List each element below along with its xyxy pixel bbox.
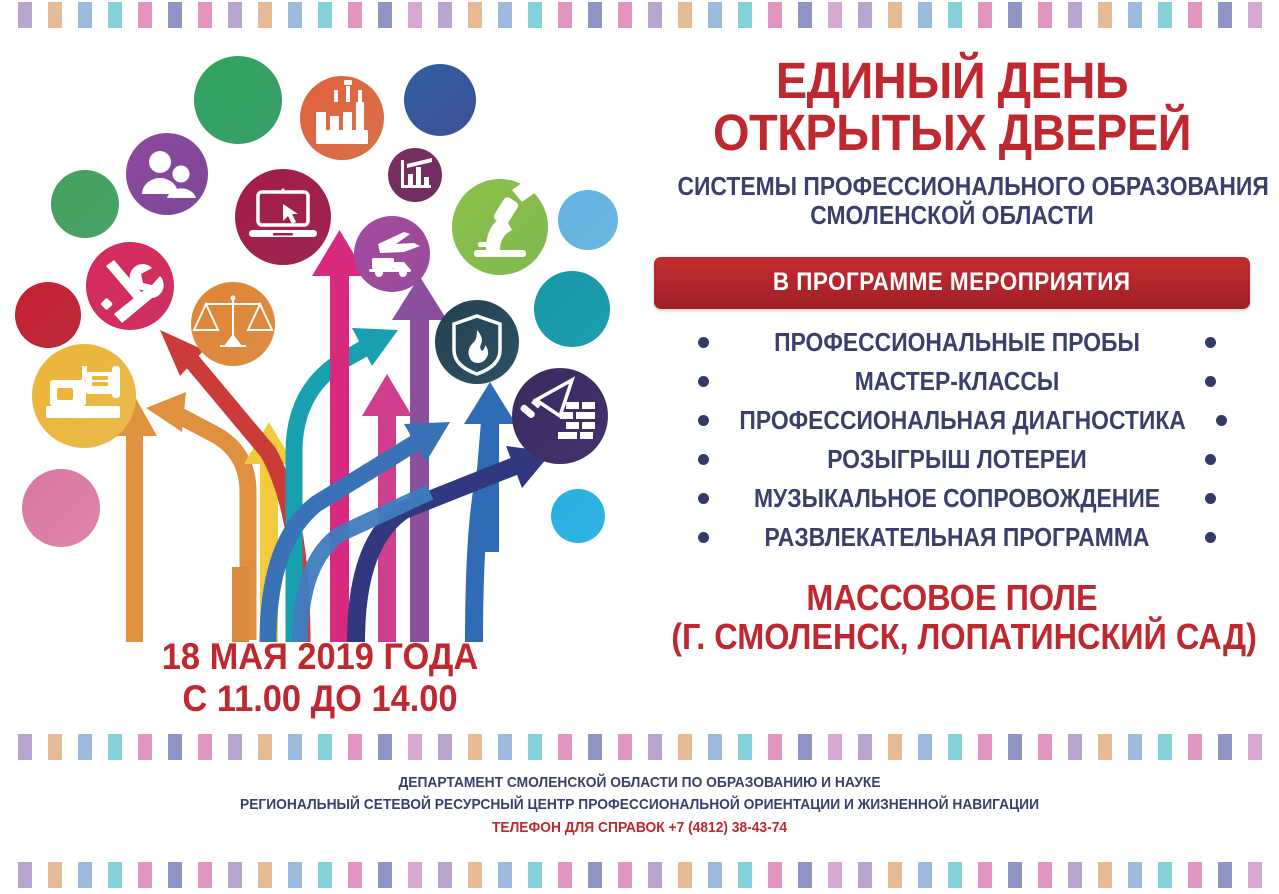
border-swatch bbox=[528, 862, 542, 888]
border-swatch bbox=[618, 734, 632, 760]
arrow-blue-straight bbox=[464, 382, 516, 642]
border-swatch bbox=[618, 862, 632, 888]
circle-tools bbox=[86, 242, 174, 330]
event-date-line: 18 МАЯ 2019 ГОДА bbox=[106, 636, 534, 678]
border-swatch bbox=[48, 862, 62, 888]
border-swatch bbox=[798, 734, 812, 760]
border-swatch bbox=[708, 2, 722, 28]
border-swatch bbox=[48, 734, 62, 760]
border-swatch bbox=[1098, 2, 1112, 28]
border-swatch bbox=[768, 862, 782, 888]
border-swatch bbox=[378, 734, 392, 760]
circle-plain-green-top bbox=[194, 56, 282, 144]
footer-block: ДЕПАРТАМЕНТ СМОЛЕНСКОЙ ОБЛАСТИ ПО ОБРАЗО… bbox=[0, 772, 1279, 840]
border-swatch bbox=[768, 2, 782, 28]
circle-plain-crimson bbox=[15, 282, 81, 348]
circle-laptop bbox=[235, 169, 331, 265]
program-item: ПРОФЕССИОНАЛЬНЫЕ ПРОБЫ bbox=[640, 323, 1264, 362]
border-swatch bbox=[318, 862, 332, 888]
border-swatch bbox=[1158, 862, 1172, 888]
border-swatch bbox=[198, 734, 212, 760]
border-swatch bbox=[318, 734, 332, 760]
program-item: ПРОФЕССИОНАЛЬНАЯ ДИАГНОСТИКА bbox=[640, 401, 1264, 440]
event-time-line: С 11.00 ДО 14.00 bbox=[106, 678, 534, 720]
border-swatch bbox=[1248, 862, 1262, 888]
border-swatch bbox=[858, 2, 872, 28]
border-swatch bbox=[1128, 862, 1142, 888]
bullet-icon bbox=[698, 337, 709, 348]
program-item: МУЗЫКАЛЬНОЕ СОПРОВОЖДЕНИЕ bbox=[640, 479, 1264, 518]
border-swatch bbox=[1008, 2, 1022, 28]
border-swatch bbox=[648, 862, 662, 888]
circle-plain-teal bbox=[534, 271, 610, 347]
circle-microscope bbox=[452, 179, 548, 275]
border-swatch bbox=[1218, 862, 1232, 888]
border-swatch bbox=[258, 734, 272, 760]
border-swatch bbox=[348, 734, 362, 760]
border-swatch bbox=[528, 734, 542, 760]
border-swatch bbox=[918, 862, 932, 888]
border-swatch bbox=[468, 734, 482, 760]
venue-line2: (Г. СМОЛЕНСК, ЛОПАТИНСКИЙ САД) bbox=[671, 618, 1233, 657]
border-swatch bbox=[18, 862, 32, 888]
bullet-icon bbox=[1205, 454, 1216, 465]
circle-transport bbox=[354, 216, 430, 292]
venue-block: МАССОВОЕ ПОЛЕ (Г. СМОЛЕНСК, ЛОПАТИНСКИЙ … bbox=[640, 579, 1264, 657]
border-swatch bbox=[438, 734, 452, 760]
border-swatch bbox=[828, 2, 842, 28]
bullet-icon bbox=[1205, 493, 1216, 504]
border-swatch bbox=[828, 734, 842, 760]
arrow-red-diagonal bbox=[160, 330, 302, 642]
arrow-orange-stem bbox=[232, 567, 249, 642]
program-item: РОЗЫГРЫШ ЛОТЕРЕИ bbox=[640, 440, 1264, 479]
border-swatch bbox=[78, 734, 92, 760]
footer-department: ДЕПАРТАМЕНТ СМОЛЕНСКОЙ ОБЛАСТИ ПО ОБРАЗО… bbox=[51, 772, 1228, 794]
border-swatch bbox=[978, 734, 992, 760]
program-banner-label: В ПРОГРАММЕ МЕРОПРИЯТИЯ bbox=[773, 268, 1131, 297]
border-swatch bbox=[708, 734, 722, 760]
border-swatch bbox=[1128, 734, 1142, 760]
circle-plain-pink bbox=[22, 469, 100, 547]
border-swatch bbox=[1068, 734, 1082, 760]
border-swatch bbox=[378, 862, 392, 888]
decorative-border-bottom bbox=[0, 862, 1279, 888]
border-swatch bbox=[558, 862, 572, 888]
footer-phone: ТЕЛЕФОН ДЛЯ СПРАВОК +7 (4812) 38-43-74 bbox=[51, 816, 1228, 840]
border-swatch bbox=[1038, 2, 1052, 28]
border-swatch bbox=[228, 862, 242, 888]
border-swatch bbox=[168, 734, 182, 760]
circle-factory bbox=[300, 76, 384, 160]
border-swatch bbox=[138, 862, 152, 888]
footer-center: РЕГИОНАЛЬНЫЙ СЕТЕВОЙ РЕСУРСНЫЙ ЦЕНТР ПРО… bbox=[51, 794, 1228, 816]
border-swatch bbox=[18, 734, 32, 760]
border-swatch bbox=[198, 862, 212, 888]
bullet-icon bbox=[1205, 376, 1216, 387]
border-swatch bbox=[228, 734, 242, 760]
border-swatch bbox=[588, 862, 602, 888]
page-title-line1: ЕДИНЫЙ ДЕНЬ bbox=[665, 56, 1239, 106]
border-swatch bbox=[288, 862, 302, 888]
border-swatch bbox=[918, 734, 932, 760]
border-swatch bbox=[948, 862, 962, 888]
border-swatch bbox=[78, 862, 92, 888]
poster-root: ЕДИНЫЙ ДЕНЬ ОТКРЫТЫХ ДВЕРЕЙ СИСТЕМЫ ПРОФ… bbox=[0, 0, 1279, 894]
border-swatch bbox=[888, 862, 902, 888]
program-list: ПРОФЕССИОНАЛЬНЫЕ ПРОБЫМАСТЕР-КЛАССЫПРОФЕ… bbox=[640, 323, 1264, 557]
border-swatch bbox=[1158, 734, 1172, 760]
border-swatch bbox=[678, 2, 692, 28]
program-item-label: МУЗЫКАЛЬНОЕ СОПРОВОЖДЕНИЕ bbox=[739, 483, 1175, 514]
border-swatch bbox=[828, 862, 842, 888]
border-swatch bbox=[138, 734, 152, 760]
border-swatch bbox=[288, 734, 302, 760]
arrow-group bbox=[112, 230, 552, 642]
circle-plain-cyan bbox=[551, 489, 605, 543]
bullet-icon bbox=[698, 532, 709, 543]
border-swatch bbox=[1038, 862, 1052, 888]
program-item: РАЗВЛЕКАТЕЛЬНАЯ ПРОГРАММА bbox=[640, 518, 1264, 557]
border-swatch bbox=[888, 2, 902, 28]
border-swatch bbox=[978, 2, 992, 28]
border-swatch bbox=[558, 734, 572, 760]
border-swatch bbox=[1098, 734, 1112, 760]
circle-trowel bbox=[512, 368, 608, 464]
circle-scales bbox=[191, 282, 275, 366]
program-item-label: МАСТЕР-КЛАССЫ bbox=[739, 366, 1175, 397]
venue-line1: МАССОВОЕ ПОЛЕ bbox=[671, 579, 1233, 618]
border-swatch bbox=[648, 2, 662, 28]
bullet-icon bbox=[698, 376, 709, 387]
border-swatch bbox=[798, 862, 812, 888]
program-banner: В ПРОГРАММЕ МЕРОПРИЯТИЯ bbox=[654, 257, 1250, 309]
border-swatch bbox=[498, 734, 512, 760]
border-swatch bbox=[708, 862, 722, 888]
border-swatch bbox=[768, 734, 782, 760]
border-swatch bbox=[648, 734, 662, 760]
border-swatch bbox=[108, 734, 122, 760]
border-swatch bbox=[1038, 734, 1052, 760]
border-swatch bbox=[1098, 862, 1112, 888]
circle-plain-lightblue bbox=[558, 190, 618, 250]
decorative-border-middle bbox=[0, 734, 1279, 760]
circle-plain-darkblue bbox=[404, 64, 476, 136]
border-swatch bbox=[1248, 2, 1262, 28]
program-item: МАСТЕР-КЛАССЫ bbox=[640, 362, 1264, 401]
border-swatch bbox=[348, 862, 362, 888]
border-swatch bbox=[1128, 2, 1142, 28]
subtitle-block: СИСТЕМЫ ПРОФЕССИОНАЛЬНОГО ОБРАЗОВАНИЯ СМ… bbox=[640, 172, 1264, 231]
border-swatch bbox=[1188, 862, 1202, 888]
border-swatch bbox=[468, 862, 482, 888]
border-swatch bbox=[1188, 2, 1202, 28]
border-swatch bbox=[918, 2, 932, 28]
border-swatch bbox=[1218, 734, 1232, 760]
border-swatch bbox=[168, 862, 182, 888]
border-swatch bbox=[948, 734, 962, 760]
border-swatch bbox=[978, 862, 992, 888]
program-item-label: ПРОФЕССИОНАЛЬНАЯ ДИАГНОСТИКА bbox=[739, 405, 1185, 436]
right-content-column: ЕДИНЫЙ ДЕНЬ ОТКРЫТЫХ ДВЕРЕЙ СИСТЕМЫ ПРОФ… bbox=[640, 56, 1264, 656]
border-swatch bbox=[1008, 862, 1022, 888]
border-swatch bbox=[738, 862, 752, 888]
border-swatch bbox=[1248, 734, 1262, 760]
program-item-label: РАЗВЛЕКАТЕЛЬНАЯ ПРОГРАММА bbox=[739, 522, 1175, 553]
border-swatch bbox=[588, 734, 602, 760]
border-swatch bbox=[1218, 2, 1232, 28]
circle-barchart bbox=[388, 148, 442, 202]
subtitle-line2: СМОЛЕНСКОЙ ОБЛАСТИ bbox=[677, 201, 1226, 230]
border-swatch bbox=[678, 734, 692, 760]
bullet-icon bbox=[1216, 415, 1227, 426]
border-swatch bbox=[408, 734, 422, 760]
border-swatch bbox=[408, 862, 422, 888]
border-swatch bbox=[888, 734, 902, 760]
border-swatch bbox=[738, 734, 752, 760]
page-title-line2: ОТКРЫТЫХ ДВЕРЕЙ bbox=[665, 108, 1239, 158]
bullet-icon bbox=[698, 454, 709, 465]
bullet-icon bbox=[698, 415, 709, 426]
border-swatch bbox=[1068, 862, 1082, 888]
bullet-icon bbox=[698, 493, 709, 504]
subtitle-line1: СИСТЕМЫ ПРОФЕССИОНАЛЬНОГО ОБРАЗОВАНИЯ bbox=[677, 172, 1226, 201]
circle-plain-green-left bbox=[51, 170, 119, 238]
program-item-label: ПРОФЕССИОНАЛЬНЫЕ ПРОБЫ bbox=[739, 327, 1175, 358]
circle-fire-shield bbox=[435, 300, 519, 384]
border-swatch bbox=[108, 862, 122, 888]
illustration-graphic bbox=[0, 22, 640, 662]
border-swatch bbox=[678, 862, 692, 888]
border-swatch bbox=[738, 2, 752, 28]
border-swatch bbox=[858, 862, 872, 888]
border-swatch bbox=[438, 862, 452, 888]
circle-sewing bbox=[32, 344, 136, 448]
border-swatch bbox=[948, 2, 962, 28]
program-item-label: РОЗЫГРЫШ ЛОТЕРЕИ bbox=[739, 444, 1175, 475]
event-date-block: 18 МАЯ 2019 ГОДА С 11.00 ДО 14.00 bbox=[90, 636, 550, 720]
bullet-icon bbox=[1205, 337, 1216, 348]
border-swatch bbox=[1188, 734, 1202, 760]
border-swatch bbox=[498, 862, 512, 888]
border-swatch bbox=[1158, 2, 1172, 28]
border-swatch bbox=[258, 862, 272, 888]
border-swatch bbox=[858, 734, 872, 760]
border-swatch bbox=[1068, 2, 1082, 28]
border-swatch bbox=[798, 2, 812, 28]
circle-people bbox=[126, 133, 208, 215]
border-swatch bbox=[1008, 734, 1022, 760]
bullet-icon bbox=[1205, 532, 1216, 543]
